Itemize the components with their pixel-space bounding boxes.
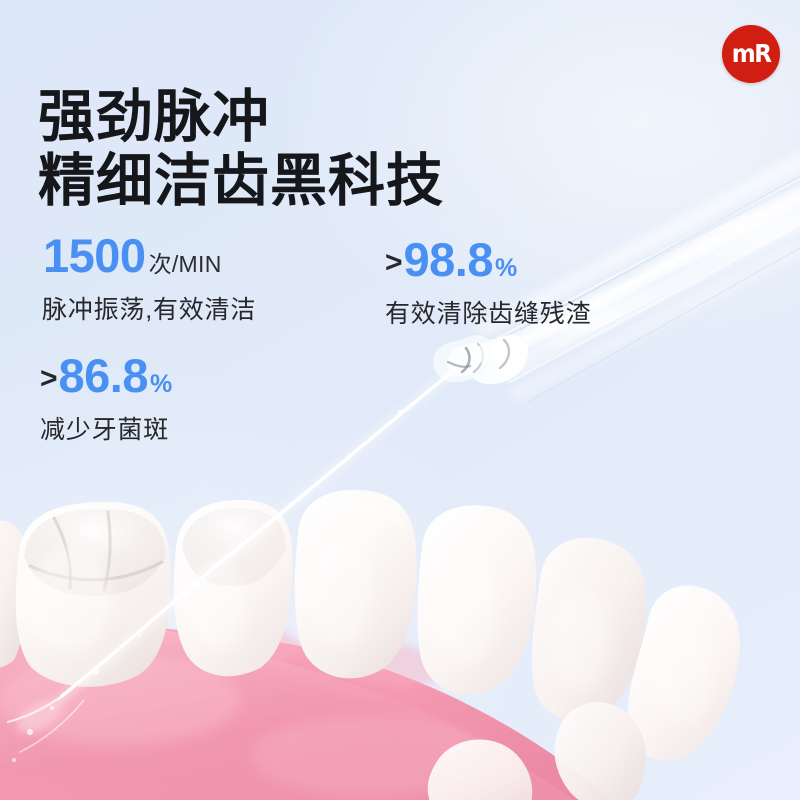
stat-figure: > 86.8 % bbox=[40, 352, 172, 399]
page-title: 强劲脉冲 精细洁齿黑科技 bbox=[38, 86, 444, 214]
stat-block-plaque-reduction: > 86.8 % 减少牙菌斑 bbox=[40, 352, 172, 446]
stat-unit: % bbox=[150, 372, 172, 397]
stat-prefix: > bbox=[40, 364, 58, 394]
brand-logo-text: mR bbox=[732, 41, 771, 66]
stat-figure: 1500 次/MIN bbox=[42, 232, 256, 279]
product-promo-poster: mR 强劲脉冲 精细洁齿黑科技 1500 次/MIN 脉冲振荡,有效清洁 > 9… bbox=[0, 0, 800, 800]
stat-figure: > 98.8 % bbox=[385, 236, 591, 283]
stat-caption: 脉冲振荡,有效清洁 bbox=[42, 290, 256, 326]
stat-unit: % bbox=[495, 256, 517, 281]
stat-block-debris-removal: > 98.8 % 有效清除齿缝残渣 bbox=[385, 236, 591, 330]
stat-prefix: > bbox=[385, 248, 403, 278]
stat-block-pulse-rate: 1500 次/MIN 脉冲振荡,有效清洁 bbox=[42, 232, 256, 326]
stat-number: 86.8 bbox=[59, 352, 148, 399]
stat-caption: 有效清除齿缝残渣 bbox=[385, 294, 591, 330]
stat-caption: 减少牙菌斑 bbox=[40, 410, 172, 446]
stat-number: 1500 bbox=[43, 232, 146, 279]
stat-unit: 次/MIN bbox=[149, 253, 222, 276]
stat-number: 98.8 bbox=[404, 236, 493, 283]
brand-logo[interactable]: mR bbox=[722, 25, 780, 83]
